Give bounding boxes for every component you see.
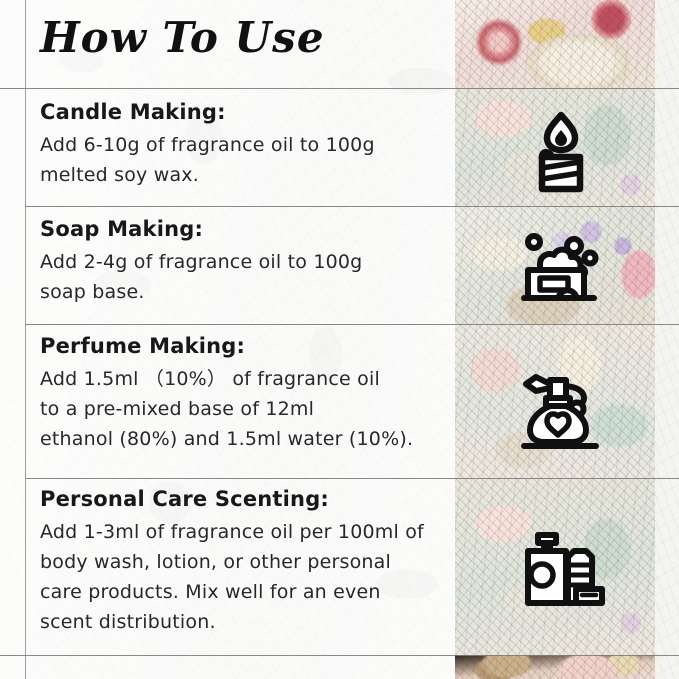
left-vertical-rule [25,0,26,679]
section-line: Add 2-4g of fragrance oil to 100g [40,247,440,277]
section-line: ethanol (80%) and 1.5ml water (10%). [40,424,440,454]
section-line: Add 1-3ml of fragrance oil per 100ml of [40,517,440,547]
lotion-bottle-icon-glyph [516,527,606,613]
candle-icon-glyph [522,110,600,194]
section-heading-perfume-making: Perfume Making: [40,334,440,358]
candle-icon [513,104,609,200]
divider-after-soap [25,324,679,325]
section-heading-candle-making: Candle Making: [40,100,440,124]
section-line: melted soy wax. [40,160,440,190]
section-line: Add 6-10g of fragrance oil to 100g [40,130,440,160]
section-line: Add 1.5ml （10%） of fragrance oil [40,364,440,394]
perfume-bottle-icon-glyph [516,368,606,452]
how-to-use-infographic: How To Use Candle Making: Add 6-10g of f… [0,0,679,679]
section-heading-personal-care-scenting: Personal Care Scenting: [40,487,440,511]
divider-after-personal-care [0,655,679,656]
section-line: care products. Mix well for an even [40,577,440,607]
section-line: body wash, lotion, or other personal [40,547,440,577]
soap-bar-icon [513,222,609,318]
section-heading-soap-making: Soap Making: [40,217,440,241]
perfume-bottle-icon [513,362,609,458]
section-candle-making: Candle Making: Add 6-10g of fragrance oi… [40,100,440,190]
section-line: to a pre-mixed base of 12ml [40,394,440,424]
lotion-bottle-icon [513,522,609,618]
page-title: How To Use [40,13,325,62]
divider-after-perfume [25,478,679,479]
right-margin-strip [655,0,679,679]
section-line: scent distribution. [40,607,440,637]
section-perfume-making: Perfume Making: Add 1.5ml （10%） of fragr… [40,334,440,454]
soap-bar-icon-glyph [518,230,604,310]
divider-after-candle [25,206,679,207]
section-soap-making: Soap Making: Add 2-4g of fragrance oil t… [40,217,440,307]
section-line: soap base. [40,277,440,307]
section-personal-care-scenting: Personal Care Scenting: Add 1-3ml of fra… [40,487,440,637]
divider-below-title [0,88,679,89]
